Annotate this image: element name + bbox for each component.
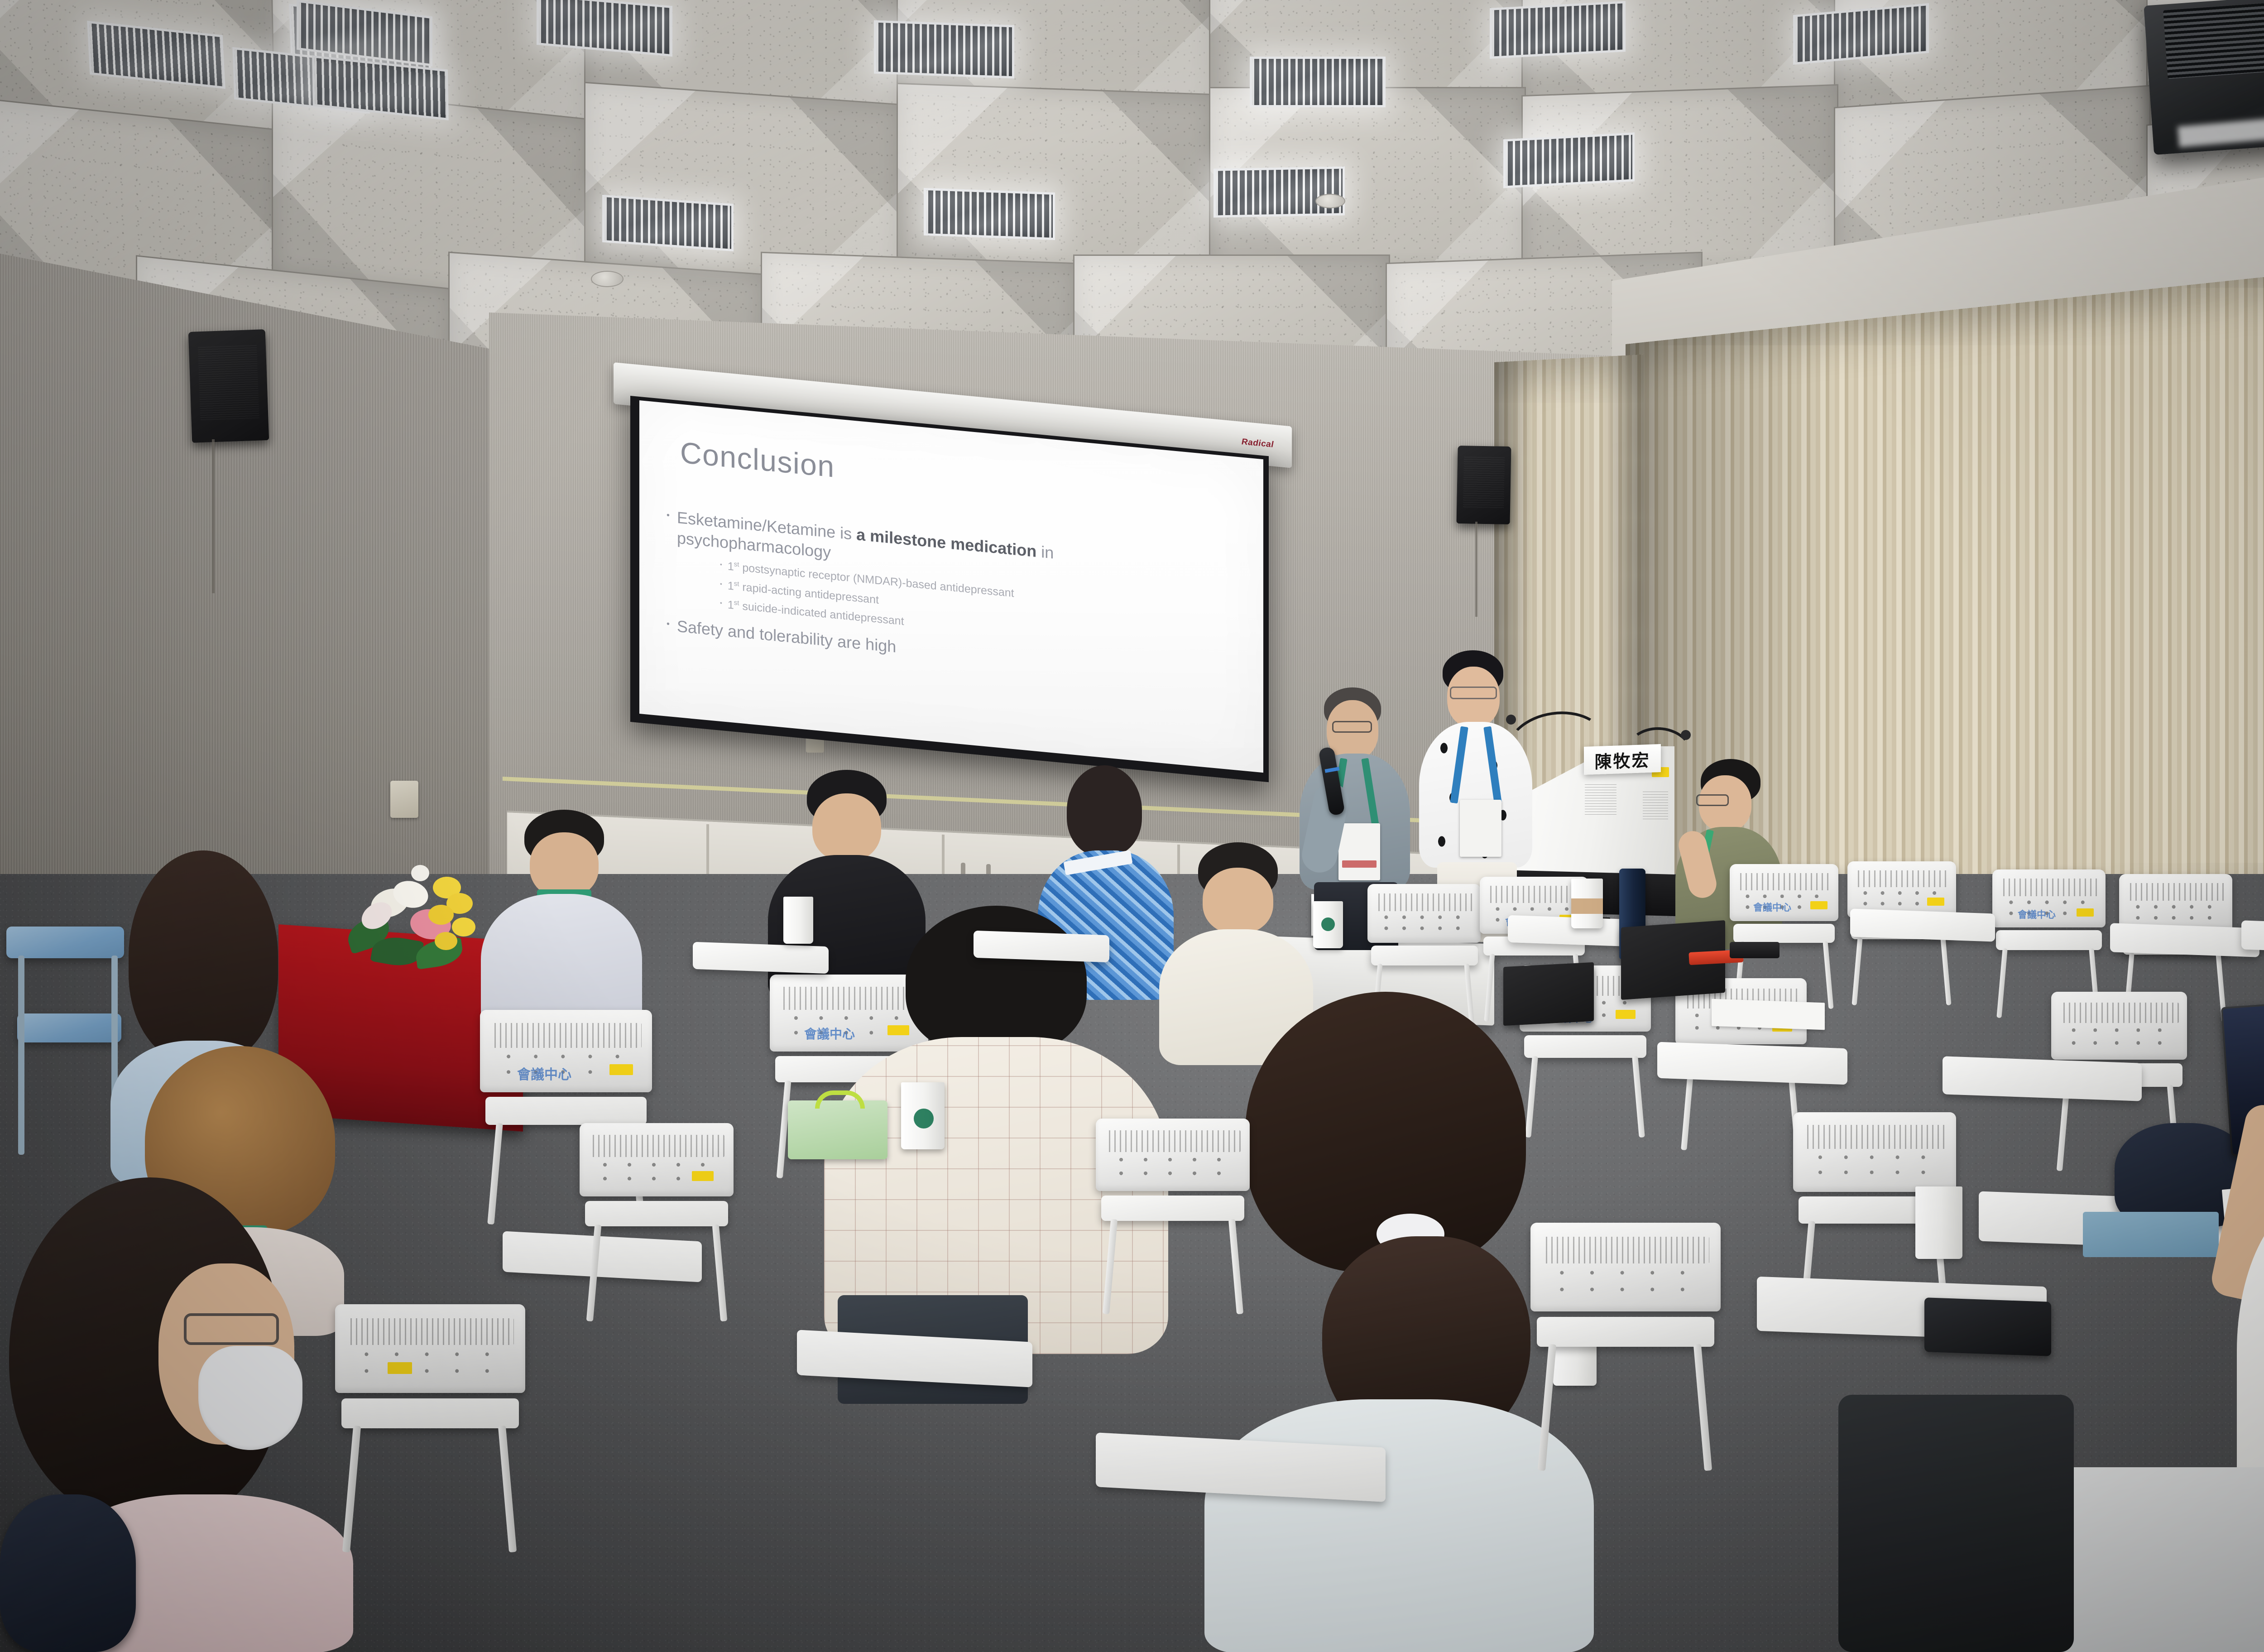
blue-chair-leg: [18, 956, 24, 1155]
coffee-cup[interactable]: [1313, 901, 1343, 948]
ceiling-light: [1250, 57, 1386, 107]
glasses: [1332, 721, 1372, 733]
head: [1203, 868, 1273, 934]
bullet-glyph: •: [720, 577, 722, 591]
ceiling-light: [1490, 1, 1626, 59]
bullet-glyph: •: [720, 558, 722, 571]
tablet-arm-desk: [1943, 1056, 2142, 1101]
screen-brand-label: Radical: [1242, 437, 1274, 450]
glasses: [1450, 687, 1497, 699]
ceiling-light: [602, 195, 734, 251]
microphone-head: [1681, 730, 1691, 740]
wall-switch-plate[interactable]: [390, 781, 418, 818]
bullet-glyph: •: [667, 615, 670, 634]
tablet-arm-desk: [693, 942, 829, 974]
chair-marking: 會議中心: [517, 1063, 571, 1083]
chair-marking: 會議中心: [2018, 908, 2056, 921]
chair[interactable]: [335, 1304, 525, 1558]
head: [812, 793, 881, 861]
ceiling-light: [874, 20, 1014, 79]
starbucks-logo: [914, 1109, 934, 1129]
speaker-cable: [212, 439, 215, 593]
backpack[interactable]: [0, 1494, 136, 1652]
slide-title: Conclusion: [680, 435, 835, 484]
ceiling-light: [924, 188, 1055, 240]
laptop[interactable]: [1503, 962, 1594, 1026]
slide-bullet-list: • Esketamine/Ketamine is a milestone med…: [667, 506, 1242, 690]
coffee-cup[interactable]: [1915, 1186, 1962, 1259]
chair-marking: 會議中心: [1753, 900, 1791, 914]
presentation-slide: Conclusion • Esketamine/Ketamine is a mi…: [639, 400, 1263, 773]
ceiling-smoke-detector: [1315, 194, 1345, 208]
hair: [129, 850, 278, 1063]
hair: [1067, 765, 1142, 856]
chair[interactable]: [1096, 1119, 1250, 1318]
head: [530, 832, 599, 898]
legs-dark-pants: [1838, 1395, 2074, 1652]
speaker-cable: [1475, 522, 1477, 617]
ceiling-smoke-detector: [591, 271, 624, 287]
green-bag[interactable]: [788, 1100, 887, 1159]
tablet-arm-desk: [1850, 908, 1995, 941]
black-remote[interactable]: [1730, 942, 1780, 958]
paper-stack: [1712, 999, 1825, 1030]
ceiling-light: [1503, 132, 1635, 188]
slide-bullet-emphasis: a milestone medication: [856, 525, 1036, 561]
name-badge: [1460, 800, 1501, 857]
tablet-arm-desk: [1657, 1042, 1847, 1085]
bullet-glyph: •: [667, 506, 670, 525]
bullet-glyph: •: [720, 597, 722, 610]
wall-speaker: [1457, 446, 1511, 524]
podium-vent: [1643, 792, 1668, 821]
chair[interactable]: [580, 1123, 734, 1327]
tablet-arm-desk: [974, 931, 1109, 962]
glasses: [184, 1313, 279, 1345]
wall-speaker: [188, 329, 269, 443]
glasses: [1696, 794, 1729, 806]
ceiling-light: [1214, 166, 1345, 217]
coffee-cup[interactable]: [1571, 879, 1603, 928]
podium-vent: [1585, 784, 1616, 817]
flower-arrangement: [344, 851, 498, 969]
name-badge: [1338, 823, 1380, 880]
coffee-cup[interactable]: [783, 897, 813, 944]
tablet-device[interactable]: [1924, 1297, 2051, 1356]
conference-room-photo: Radical Conclusion • Esketamine/Ketamine…: [0, 0, 2264, 1652]
face-mask: [198, 1346, 302, 1450]
chair[interactable]: [1530, 1223, 1721, 1476]
folded-cloth: [2083, 1212, 2219, 1257]
hair: [906, 906, 1087, 1055]
badge-text: [1342, 860, 1377, 868]
coffee-cup-starbucks[interactable]: [901, 1082, 945, 1149]
